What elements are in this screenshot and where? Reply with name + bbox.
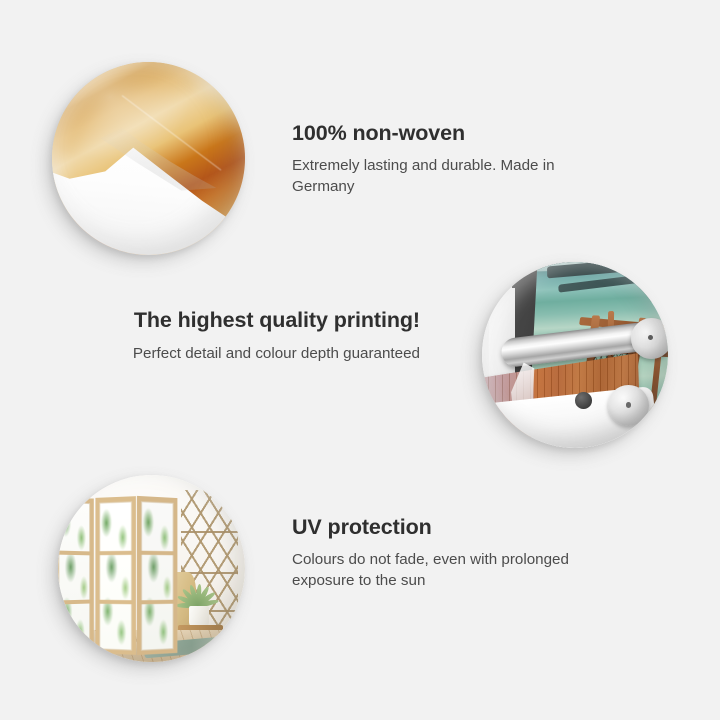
- feature-text-non-woven: 100% non-woven Extremely lasting and dur…: [292, 121, 612, 198]
- medallion-inner-shade: [482, 262, 668, 448]
- folding-room-divider: [58, 497, 178, 654]
- divider-panel: [96, 497, 137, 656]
- divider-panel-crossbar: [59, 600, 91, 605]
- feature-title-uv-protection: UV protection: [292, 515, 592, 540]
- feature-description-uv-protection: Colours do not fade, even with prolonged…: [292, 549, 592, 592]
- divider-panel: [58, 496, 94, 657]
- feature-text-quality-printing: The highest quality printing! Perfect de…: [108, 308, 420, 364]
- feature-title-quality-printing: The highest quality printing!: [108, 308, 420, 333]
- feature-title-non-woven: 100% non-woven: [292, 121, 612, 146]
- divider-panel-crossbar: [100, 600, 133, 604]
- divider-panel-crossbar: [141, 551, 174, 556]
- feature-image-uv-protection: [58, 475, 245, 662]
- feature-description-non-woven: Extremely lasting and durable. Made in G…: [292, 155, 612, 198]
- divider-panel: [137, 496, 178, 655]
- feature-text-uv-protection: UV protection Colours do not fade, even …: [292, 515, 592, 592]
- feature-image-non-woven: [52, 62, 245, 255]
- medallion-inner-shade: [52, 62, 245, 255]
- divider-panel-crossbar: [100, 551, 133, 555]
- divider-panel-crossbar: [59, 551, 91, 556]
- feature-image-quality-printing: [482, 262, 668, 448]
- divider-panel-crossbar: [141, 600, 174, 605]
- feature-description-quality-printing: Perfect detail and colour depth guarante…: [108, 343, 420, 365]
- infographic-canvas: 100% non-woven Extremely lasting and dur…: [0, 0, 720, 720]
